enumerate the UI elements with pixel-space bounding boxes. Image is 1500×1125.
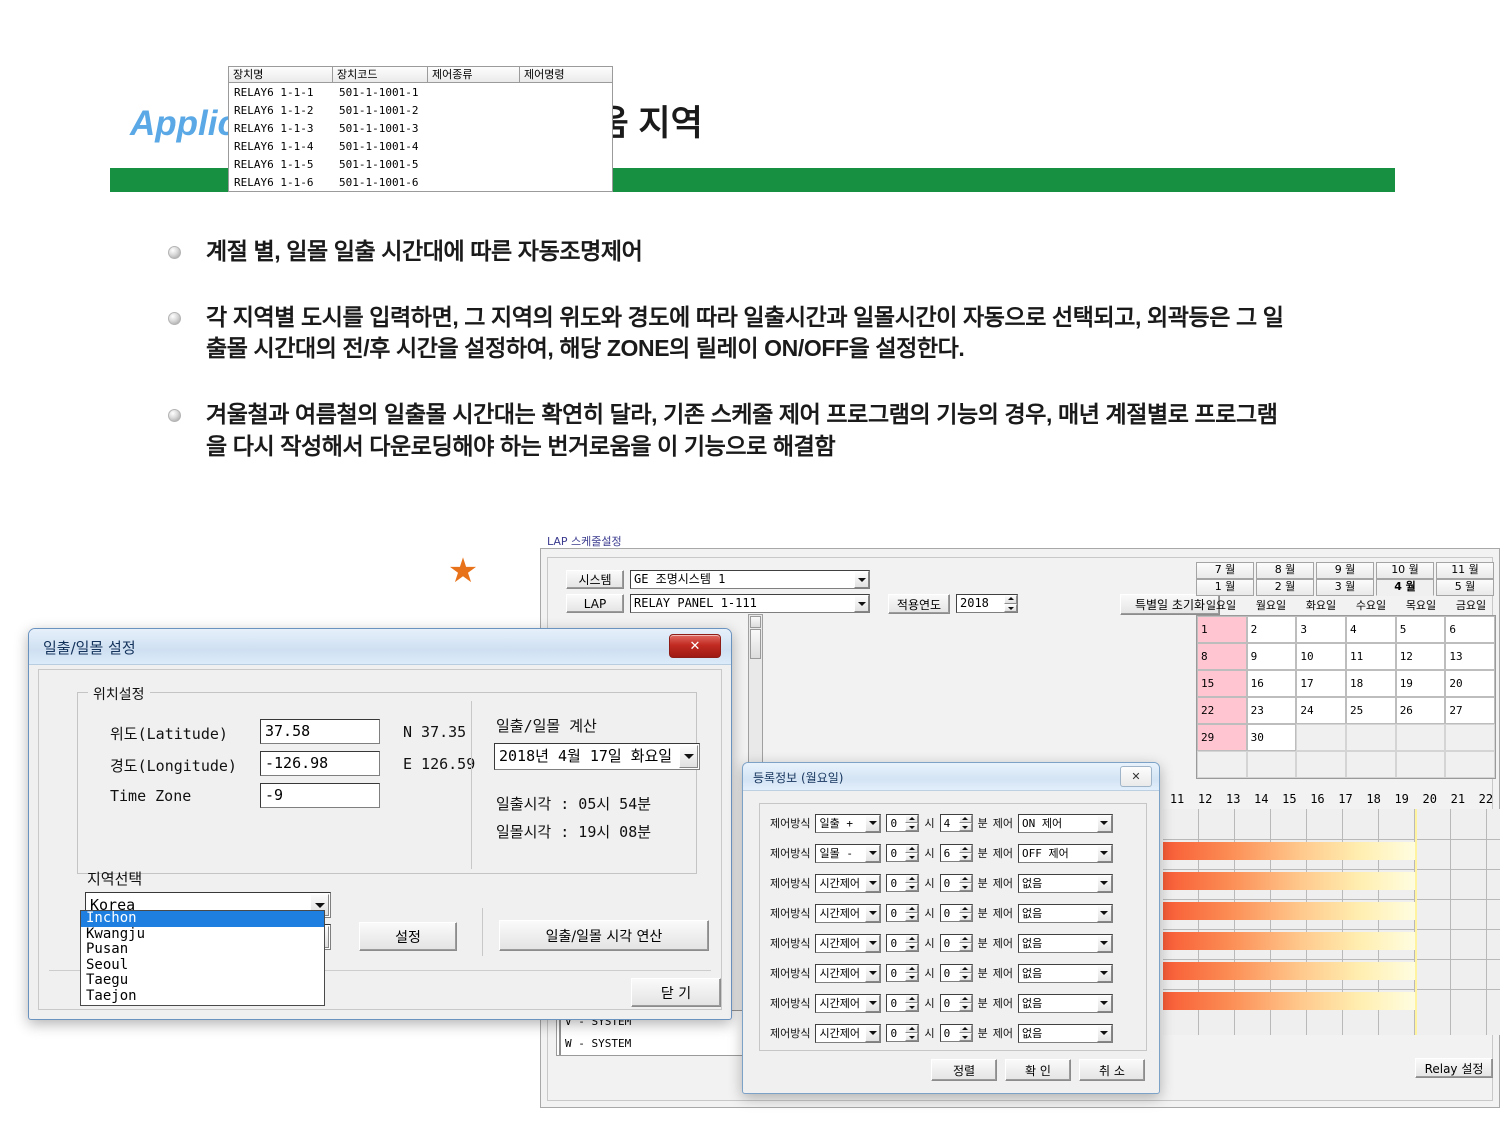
sort-button[interactable]: 정렬	[931, 1059, 997, 1081]
minute-stepper[interactable]: 0	[940, 964, 973, 982]
chevron-down-icon[interactable]	[1097, 965, 1112, 982]
minute-spin-buttons[interactable]	[959, 935, 972, 951]
bullet-list: 계절 별, 일몰 일출 시간대에 따른 자동조명제어 각 지역별 도시를 입력하…	[168, 236, 1288, 497]
device-table-scrollbar[interactable]	[748, 614, 763, 764]
control-select[interactable]: 없음	[1018, 964, 1113, 983]
method-label: 제어방식	[770, 995, 810, 1011]
close-button[interactable]: 닫 기	[631, 978, 721, 1007]
minute-stepper[interactable]: 0	[940, 994, 973, 1012]
hour-tick: 20	[1416, 790, 1444, 809]
spin-down-icon[interactable]	[959, 913, 972, 921]
method-select[interactable]: 시간제어	[815, 904, 881, 923]
calendar-day-empty	[1296, 724, 1346, 751]
cell-device-name: RELAY6 1-1-6	[229, 176, 334, 189]
schedule-timeline: 11 12 13 14 15 16 17 18 19 20 21 22	[1163, 790, 1500, 1035]
city-option-inchon[interactable]: Inchon	[81, 911, 324, 927]
spin-up-icon[interactable]	[905, 815, 918, 823]
chevron-down-icon[interactable]	[1097, 905, 1112, 922]
cell-device-code: 501-1-1001-1	[334, 86, 429, 99]
method-select[interactable]: 시간제어	[815, 1024, 881, 1043]
chevron-down-icon[interactable]	[865, 845, 880, 862]
hour-spin-buttons[interactable]	[905, 965, 918, 981]
city-option-taejon[interactable]: Taejon	[81, 989, 324, 1005]
spin-down-icon[interactable]	[905, 1003, 918, 1011]
hour-spin-buttons[interactable]	[905, 995, 918, 1011]
control-rows-group: 제어방식 일출 + 0 시 4 분 제어 ON 제어	[759, 803, 1147, 1051]
cell-device-code: 501-1-1001-2	[334, 104, 429, 117]
calendar-day-empty	[1346, 724, 1396, 751]
chevron-down-icon[interactable]	[865, 965, 880, 982]
control-label: 제어	[993, 875, 1013, 891]
month-tabs-row-1: 7 월 8 월 9 월 10 월 11 월	[1196, 562, 1496, 579]
calendar-day-empty	[1346, 751, 1396, 778]
calendar-week: 8 9 10 11 12 13	[1197, 643, 1495, 670]
control-label: 제어	[993, 995, 1013, 1011]
chevron-down-icon[interactable]	[865, 815, 880, 832]
hour-spin-buttons[interactable]	[905, 935, 918, 951]
scrollbar-thumb[interactable]	[750, 629, 761, 659]
timezone-input[interactable]: -9	[260, 783, 380, 808]
column-device-code[interactable]: 장치코드	[333, 66, 428, 83]
calendar-day[interactable]: 13	[1445, 643, 1495, 670]
bullet-text: 각 지역별 도시를 입력하면, 그 지역의 위도와 경도에 따라 일출시간과 일…	[206, 302, 1288, 365]
spin-up-icon[interactable]	[1004, 595, 1017, 604]
spin-down-icon[interactable]	[1004, 604, 1017, 613]
schedule-bar[interactable]	[1163, 962, 1415, 980]
close-icon[interactable]: ✕	[669, 634, 721, 658]
city-option-pusan[interactable]: Pusan	[81, 942, 324, 958]
method-label: 제어방식	[770, 875, 810, 891]
control-row: 제어방식 시간제어 0 시 0 분 제어 없음	[770, 992, 1138, 1014]
month-calendar: 7 월 8 월 9 월 10 월 11 월 1 월 2 월 3 월 4 월 5 …	[1196, 562, 1496, 777]
calendar-day[interactable]: 3	[1296, 616, 1346, 643]
ok-button[interactable]: 확 인	[1005, 1059, 1071, 1081]
apply-button[interactable]: 설정	[359, 922, 457, 951]
chevron-down-icon[interactable]	[1097, 995, 1112, 1012]
chevron-down-icon[interactable]	[679, 745, 698, 768]
control-label: 제어	[993, 845, 1013, 861]
minute-spin-buttons[interactable]	[959, 845, 972, 861]
calendar-day-empty	[1247, 751, 1297, 778]
minute-stepper[interactable]: 0	[940, 934, 973, 952]
minute-label: 분	[978, 905, 988, 921]
sunrise-time: 일출시각 : 05시 54분	[496, 793, 651, 814]
calendar-day[interactable]: 18	[1346, 670, 1396, 697]
table-row[interactable]: RELAY6 1-1-6501-1-1001-6	[229, 173, 612, 191]
spin-down-icon[interactable]	[905, 913, 918, 921]
method-select[interactable]: 시간제어	[815, 934, 881, 953]
column-device-name[interactable]: 장치명	[228, 66, 333, 83]
calendar-day[interactable]: 12	[1396, 643, 1446, 670]
minute-label: 분	[978, 815, 988, 831]
city-option-kwangju[interactable]: Kwangju	[81, 927, 324, 943]
chevron-down-icon[interactable]	[1097, 1025, 1112, 1042]
calendar-day[interactable]: 27	[1445, 697, 1495, 724]
calendar-day[interactable]: 4	[1346, 616, 1396, 643]
minute-spin-buttons[interactable]	[959, 905, 972, 921]
calendar-day[interactable]: 23	[1247, 697, 1297, 724]
table-row[interactable]: RELAY6 1-1-4501-1-1001-4	[229, 137, 612, 155]
spin-down-icon[interactable]	[905, 943, 918, 951]
calendar-day[interactable]: 22	[1197, 697, 1247, 724]
calendar-grid: 1 2 3 4 5 6 8 9 10 11 12 13 15 16 17 18 …	[1196, 615, 1496, 779]
tab-month-3[interactable]: 3 월	[1316, 579, 1374, 596]
calendar-week: 15 16 17 18 19 20	[1197, 670, 1495, 697]
method-select[interactable]: 시간제어	[815, 994, 881, 1013]
lap-select-value: RELAY PANEL 1-111	[630, 594, 870, 613]
minute-stepper[interactable]: 6	[940, 844, 973, 862]
hour-tick: 16	[1303, 790, 1331, 809]
weekday-thu: 목요일	[1396, 597, 1446, 615]
calendar-day[interactable]: 6	[1445, 616, 1495, 643]
hour-tick: 21	[1444, 790, 1472, 809]
table-row[interactable]: RELAY6 1-1-5501-1-1001-5	[229, 155, 612, 173]
device-table: 장치명 장치코드 제어종류 제어명령 RELAY6 1-1-1501-1-100…	[228, 66, 613, 192]
minute-label: 분	[978, 995, 988, 1011]
calendar-day[interactable]: 16	[1247, 670, 1297, 697]
spin-up-icon[interactable]	[959, 905, 972, 913]
close-icon[interactable]: ✕	[1120, 766, 1152, 787]
weekday-mon: 월요일	[1246, 597, 1296, 615]
minute-spin-buttons[interactable]	[959, 815, 972, 831]
longitude-input[interactable]: -126.98	[260, 751, 380, 776]
calendar-day[interactable]: 1	[1197, 616, 1247, 643]
tab-month-9[interactable]: 9 월	[1316, 562, 1374, 579]
method-select[interactable]: 시간제어	[815, 964, 881, 983]
cell-device-name: RELAY6 1-1-3	[229, 122, 334, 135]
control-label: 제어	[993, 905, 1013, 921]
weekday-fri: 금요일	[1446, 597, 1496, 615]
device-table-header: 장치명 장치코드 제어종류 제어명령	[228, 66, 613, 83]
hour-label: 시	[924, 995, 934, 1011]
calendar-day[interactable]: 10	[1296, 643, 1346, 670]
control-row: 제어방식 일출 + 0 시 4 분 제어 ON 제어	[770, 812, 1138, 834]
minute-spin-buttons[interactable]	[959, 875, 972, 891]
calendar-day[interactable]: 15	[1197, 670, 1247, 697]
minute-label: 분	[978, 845, 988, 861]
calendar-week: 29 30	[1197, 724, 1495, 751]
calendar-week: 22 23 24 25 26 27	[1197, 697, 1495, 724]
calendar-day[interactable]: 2	[1247, 616, 1297, 643]
calendar-day[interactable]: 9	[1247, 643, 1297, 670]
spin-up-icon[interactable]	[959, 815, 972, 823]
control-select[interactable]: OFF 제어	[1018, 844, 1113, 863]
hour-spin-buttons[interactable]	[905, 905, 918, 921]
calendar-day[interactable]: 20	[1445, 670, 1495, 697]
control-row: 제어방식 시간제어 0 시 0 분 제어 없음	[770, 932, 1138, 954]
bullet-dot-icon	[168, 312, 181, 325]
timeline-row-divider	[1163, 839, 1500, 840]
hour-stepper[interactable]: 0	[886, 844, 919, 862]
weekday-wed: 수요일	[1346, 597, 1396, 615]
weekday-sun: 일요일	[1196, 597, 1246, 615]
timeline-row-divider	[1163, 959, 1500, 960]
method-select[interactable]: 일몰 -	[815, 844, 881, 863]
spin-down-icon[interactable]	[905, 823, 918, 831]
scroll-up-icon[interactable]	[750, 616, 761, 628]
spin-up-icon[interactable]	[959, 995, 972, 1003]
calculate-sun-times-button[interactable]: 일출/일몰 시각 연산	[499, 920, 709, 951]
dialog-titlebar[interactable]: 등록정보 (월요일) ✕	[743, 763, 1159, 791]
tab-month-11[interactable]: 11 월	[1436, 562, 1494, 579]
table-row[interactable]: RELAY6 1-1-1501-1-1001-1	[229, 83, 612, 101]
relay-settings-button[interactable]: Relay 설정	[1415, 1058, 1493, 1078]
table-row[interactable]: RELAY6 1-1-2501-1-1001-2	[229, 101, 612, 119]
dialog-footer-buttons: 정렬 확 인 취 소	[931, 1059, 1145, 1081]
spin-down-icon[interactable]	[959, 973, 972, 981]
calendar-day[interactable]: 29	[1197, 724, 1247, 751]
hour-stepper[interactable]: 0	[886, 874, 919, 892]
control-row: 제어방식 시간제어 0 시 0 분 제어 없음	[770, 872, 1138, 894]
method-label: 제어방식	[770, 1025, 810, 1041]
weekday-header: 일요일 월요일 화요일 수요일 목요일 금요일	[1196, 597, 1496, 615]
device-table-body: RELAY6 1-1-1501-1-1001-1 RELAY6 1-1-2501…	[228, 83, 613, 192]
chevron-down-icon[interactable]	[1097, 815, 1112, 832]
chevron-down-icon[interactable]	[865, 905, 880, 922]
tab-month-1[interactable]: 1 월	[1196, 579, 1254, 596]
lap-label: LAP	[566, 594, 624, 613]
calendar-day[interactable]: 11	[1346, 643, 1396, 670]
control-select[interactable]: 없음	[1018, 904, 1113, 923]
hour-stepper[interactable]: 0	[886, 1024, 919, 1042]
calc-date-select[interactable]: 2018년 4월 17일 화요일	[494, 743, 700, 770]
tab-month-5[interactable]: 5 월	[1436, 579, 1494, 596]
calendar-day-empty	[1396, 751, 1446, 778]
timezone-label: Time Zone	[110, 787, 191, 805]
spin-down-icon[interactable]	[959, 853, 972, 861]
chevron-down-icon[interactable]	[1097, 845, 1112, 862]
city-option-seoul[interactable]: Seoul	[81, 958, 324, 974]
cell-device-name: RELAY6 1-1-4	[229, 140, 334, 153]
spin-down-icon[interactable]	[959, 1033, 972, 1041]
year-stepper[interactable]: 2018	[956, 594, 1018, 613]
spin-down-icon[interactable]	[959, 943, 972, 951]
minute-stepper[interactable]: 0	[940, 874, 973, 892]
tab-month-2[interactable]: 2 월	[1256, 579, 1314, 596]
bullet-text: 계절 별, 일몰 일출 시간대에 따른 자동조명제어	[206, 236, 1288, 268]
calendar-week: 1 2 3 4 5 6	[1197, 616, 1495, 643]
spin-up-icon[interactable]	[959, 935, 972, 943]
star-icon: ★	[446, 554, 480, 588]
spin-up-icon[interactable]	[905, 995, 918, 1003]
bullet-item: 각 지역별 도시를 입력하면, 그 지역의 위도와 경도에 따라 일출시간과 일…	[168, 302, 1288, 365]
spin-up-icon[interactable]	[959, 845, 972, 853]
cell-device-name: RELAY6 1-1-5	[229, 158, 334, 171]
calendar-day-empty	[1197, 751, 1247, 778]
hour-tick: 12	[1191, 790, 1219, 809]
year-spin-buttons[interactable]	[1004, 595, 1017, 612]
chevron-down-icon[interactable]	[1097, 875, 1112, 892]
timeline-row-divider	[1163, 989, 1500, 990]
lap-select[interactable]: RELAY PANEL 1-111	[630, 594, 870, 613]
calendar-day[interactable]: 30	[1247, 724, 1297, 751]
schedule-bar[interactable]	[1163, 872, 1415, 890]
list-item[interactable]: W - SYSTEM	[559, 1033, 745, 1055]
minute-stepper[interactable]: 4	[940, 814, 973, 832]
group-vertical-divider	[471, 701, 472, 869]
spin-up-icon[interactable]	[905, 935, 918, 943]
bullet-dot-icon	[168, 409, 181, 422]
hour-stepper[interactable]: 0	[886, 934, 919, 952]
spin-up-icon[interactable]	[905, 845, 918, 853]
minute-label: 분	[978, 875, 988, 891]
spin-up-icon[interactable]	[959, 965, 972, 973]
chevron-down-icon[interactable]	[865, 995, 880, 1012]
timeline-column	[1415, 809, 1451, 1035]
method-select[interactable]: 일출 +	[815, 814, 881, 833]
latitude-label: 위도(Latitude)	[110, 723, 228, 744]
control-select[interactable]: 없음	[1018, 874, 1113, 893]
calendar-day[interactable]: 26	[1396, 697, 1446, 724]
spin-up-icon[interactable]	[905, 965, 918, 973]
spin-down-icon[interactable]	[905, 973, 918, 981]
latitude-input[interactable]: 37.58	[260, 719, 380, 744]
column-control-type[interactable]: 제어종류	[428, 66, 520, 83]
hour-tick: 15	[1275, 790, 1303, 809]
tab-month-10[interactable]: 10 월	[1376, 562, 1434, 579]
hour-tick: 18	[1360, 790, 1388, 809]
dialog-titlebar[interactable]: 일출/일몰 설정 ✕	[29, 629, 731, 665]
chevron-down-icon[interactable]	[865, 875, 880, 892]
control-label: 제어	[993, 965, 1013, 981]
hour-spin-buttons[interactable]	[905, 815, 918, 831]
chevron-down-icon[interactable]	[854, 595, 869, 612]
minute-spin-buttons[interactable]	[959, 995, 972, 1011]
hour-spin-buttons[interactable]	[905, 1025, 918, 1041]
city-option-taegu[interactable]: Taegu	[81, 973, 324, 989]
spin-down-icon[interactable]	[959, 823, 972, 831]
cell-device-name: RELAY6 1-1-2	[229, 104, 334, 117]
calendar-day[interactable]: 24	[1296, 697, 1346, 724]
cell-device-code: 501-1-1001-3	[334, 122, 429, 135]
system-select[interactable]: GE 조명시스템 1	[630, 570, 870, 589]
timeline-row-divider	[1163, 899, 1500, 900]
method-label: 제어방식	[770, 935, 810, 951]
chevron-down-icon[interactable]	[865, 935, 880, 952]
spin-up-icon[interactable]	[905, 875, 918, 883]
cell-device-code: 501-1-1001-4	[334, 140, 429, 153]
cell-device-code: 501-1-1001-6	[334, 176, 429, 189]
bullet-text: 겨울철과 여름철의 일출몰 시간대는 확연히 달라, 기존 스케줄 제어 프로그…	[206, 399, 1288, 462]
hour-label: 시	[924, 905, 934, 921]
location-settings-title: 위치설정	[88, 684, 150, 704]
dialog-body: 제어방식 일출 + 0 시 4 분 제어 ON 제어	[751, 795, 1151, 1085]
hour-label: 시	[924, 935, 934, 951]
sunset-time: 일몰시각 : 19시 08분	[496, 821, 651, 842]
tab-month-7[interactable]: 7 월	[1196, 562, 1254, 579]
chevron-down-icon[interactable]	[854, 571, 869, 588]
table-row[interactable]: RELAY6 1-1-3501-1-1001-3	[229, 119, 612, 137]
hour-tick: 19	[1388, 790, 1416, 809]
hour-stepper[interactable]: 0	[886, 964, 919, 982]
spin-up-icon[interactable]	[959, 1025, 972, 1033]
tab-month-8[interactable]: 8 월	[1256, 562, 1314, 579]
hour-label: 시	[924, 1025, 934, 1041]
calc-date-value: 2018년 4월 17일 화요일	[494, 743, 700, 770]
cell-device-code: 501-1-1001-5	[334, 158, 429, 171]
control-select[interactable]: ON 제어	[1018, 814, 1113, 833]
registration-info-dialog: 등록정보 (월요일) ✕ 제어방식 일출 + 0 시 4 분	[742, 762, 1160, 1094]
weekday-tue: 화요일	[1296, 597, 1346, 615]
hour-label: 시	[924, 845, 934, 861]
calendar-day[interactable]: 19	[1396, 670, 1446, 697]
bullet-item: 계절 별, 일몰 일출 시간대에 따른 자동조명제어	[168, 236, 1288, 268]
hour-spin-buttons[interactable]	[905, 845, 918, 861]
spin-up-icon[interactable]	[905, 1025, 918, 1033]
system-label: 시스템	[566, 570, 624, 589]
location-settings-group: 위치설정 위도(Latitude) 37.58 N 37.35 경도(Longi…	[77, 692, 697, 874]
bullet-item: 겨울철과 여름철의 일출몰 시간대는 확연히 달라, 기존 스케줄 제어 프로그…	[168, 399, 1288, 462]
spin-down-icon[interactable]	[905, 883, 918, 891]
hour-label: 시	[924, 875, 934, 891]
hour-stepper[interactable]: 0	[886, 814, 919, 832]
hour-spin-buttons[interactable]	[905, 875, 918, 891]
column-control-command[interactable]: 제어명령	[520, 66, 613, 83]
calendar-day[interactable]: 5	[1396, 616, 1446, 643]
timeline-body[interactable]	[1163, 809, 1500, 1035]
control-select[interactable]: 없음	[1018, 1024, 1113, 1043]
control-label: 제어	[993, 815, 1013, 831]
hour-tick: 14	[1247, 790, 1275, 809]
cell-device-name: RELAY6 1-1-1	[229, 86, 334, 99]
bullet-dot-icon	[168, 246, 181, 259]
minute-label: 분	[978, 965, 988, 981]
year-label: 적용연도	[888, 594, 950, 614]
hour-tick: 17	[1331, 790, 1359, 809]
control-row: 제어방식 시간제어 0 시 0 분 제어 없음	[770, 902, 1138, 924]
chevron-down-icon[interactable]	[865, 1025, 880, 1042]
city-dropdown-list[interactable]: Inchon Kwangju Pusan Seoul Taegu Taejon	[80, 910, 325, 1006]
spin-down-icon[interactable]	[959, 883, 972, 891]
control-select[interactable]: 없음	[1018, 934, 1113, 953]
tab-month-4[interactable]: 4 월	[1376, 579, 1434, 596]
cancel-button[interactable]: 취 소	[1079, 1059, 1145, 1081]
minute-stepper[interactable]: 0	[940, 1024, 973, 1042]
calendar-day[interactable]: 17	[1296, 670, 1346, 697]
calendar-day[interactable]: 25	[1346, 697, 1396, 724]
spin-down-icon[interactable]	[905, 1033, 918, 1041]
schedule-bar[interactable]	[1163, 992, 1415, 1010]
timeline-hour-axis: 11 12 13 14 15 16 17 18 19 20 21 22	[1163, 790, 1500, 809]
chevron-down-icon[interactable]	[1097, 935, 1112, 952]
minute-spin-buttons[interactable]	[959, 965, 972, 981]
spin-down-icon[interactable]	[959, 1003, 972, 1011]
minute-spin-buttons[interactable]	[959, 1025, 972, 1041]
calendar-day[interactable]: 8	[1197, 643, 1247, 670]
spin-up-icon[interactable]	[959, 875, 972, 883]
calc-group-title: 일출/일몰 계산	[496, 715, 597, 736]
schedule-bar[interactable]	[1163, 932, 1415, 950]
timeline-row-divider	[1163, 869, 1500, 870]
longitude-display: E 126.59	[403, 755, 475, 773]
hour-stepper[interactable]: 0	[886, 904, 919, 922]
spin-up-icon[interactable]	[905, 905, 918, 913]
spin-down-icon[interactable]	[905, 853, 918, 861]
hour-stepper[interactable]: 0	[886, 994, 919, 1012]
schedule-bar[interactable]	[1163, 842, 1415, 860]
schedule-bar[interactable]	[1163, 902, 1415, 920]
month-tabs-row-2: 1 월 2 월 3 월 4 월 5 월	[1196, 579, 1496, 596]
minute-label: 분	[978, 1025, 988, 1041]
sunset-marker	[1415, 809, 1417, 1035]
control-select[interactable]: 없음	[1018, 994, 1113, 1013]
region-select-title: 지역선택	[87, 868, 142, 889]
method-label: 제어방식	[770, 965, 810, 981]
minute-stepper[interactable]: 0	[940, 904, 973, 922]
method-select[interactable]: 시간제어	[815, 874, 881, 893]
longitude-label: 경도(Longitude)	[110, 755, 237, 776]
calendar-week	[1197, 751, 1495, 778]
